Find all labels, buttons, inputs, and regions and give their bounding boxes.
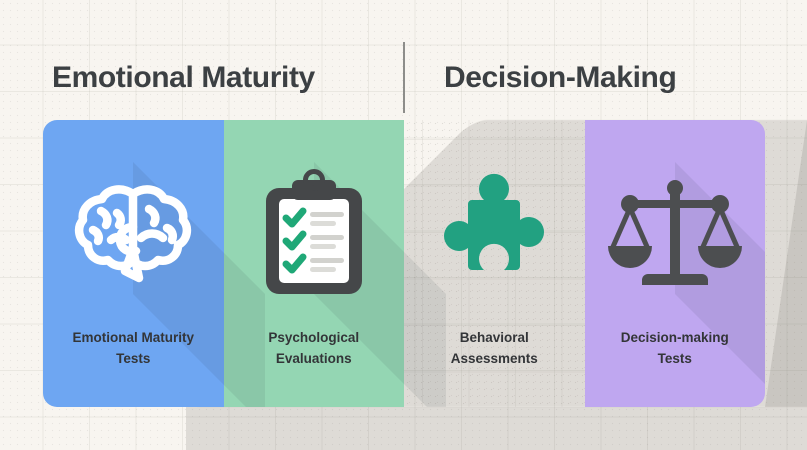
card-label-line-2: Evaluations: [230, 349, 399, 370]
card-label: Decision-making Tests: [591, 328, 760, 370]
card-row-shadow-fill: [186, 407, 807, 450]
card-label: Psychological Evaluations: [230, 328, 399, 370]
card-label: Emotional Maturity Tests: [49, 328, 218, 370]
card-label: Behavioral Assessments: [410, 328, 579, 370]
card-label-line-1: Emotional Maturity: [49, 328, 218, 349]
infographic-canvas: Emotional Maturity Decision-Making: [0, 0, 807, 450]
card-psychological-evaluations[interactable]: Psychological Evaluations: [224, 120, 405, 407]
card-label-line-2: Tests: [591, 349, 760, 370]
card-emotional-maturity-tests[interactable]: Emotional Maturity Tests: [43, 120, 224, 407]
brain-icon: [74, 176, 192, 294]
section-heading-emotional-maturity: Emotional Maturity: [52, 42, 315, 114]
card-behavioral-assessments[interactable]: Behavioral Assessments: [404, 120, 585, 407]
clipboard-checklist-icon: [255, 176, 373, 294]
section-divider: [403, 42, 405, 113]
puzzle-piece-icon: [435, 176, 553, 294]
card-label-line-2: Tests: [49, 349, 218, 370]
card-label-line-1: Psychological: [230, 328, 399, 349]
card-label-line-2: Assessments: [410, 349, 579, 370]
balance-scale-icon: [616, 176, 734, 294]
section-heading-decision-making: Decision-Making: [444, 42, 676, 114]
card-label-line-1: Behavioral: [410, 328, 579, 349]
card-label-line-1: Decision-making: [591, 328, 760, 349]
card-decision-making-tests[interactable]: Decision-making Tests: [585, 120, 766, 407]
card-row: Emotional Maturity Tests: [43, 120, 765, 407]
